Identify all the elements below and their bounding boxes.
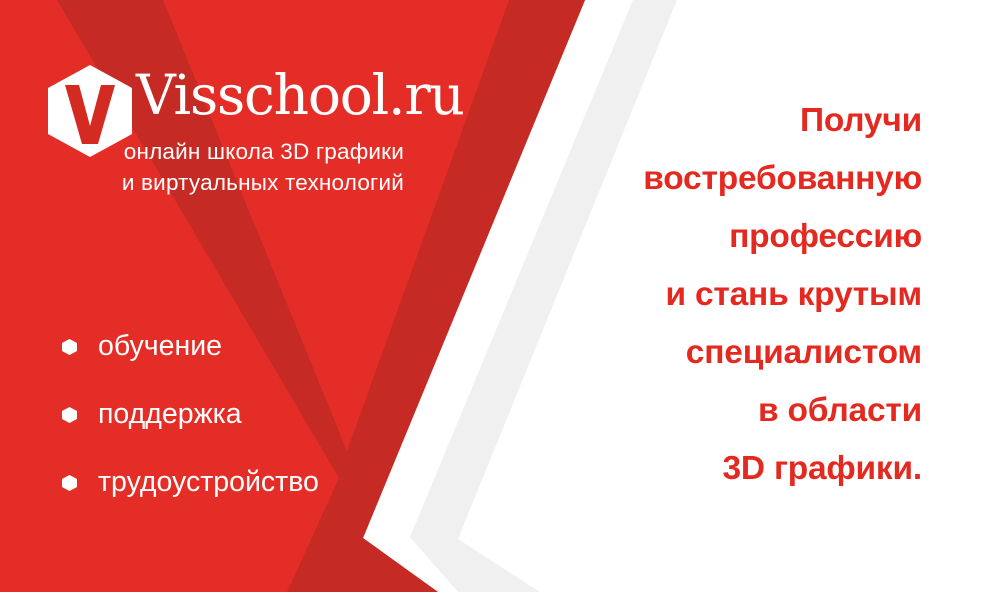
headline: Получи востребованную профессию и стань … (502, 92, 922, 498)
headline-line: востребованную (502, 150, 922, 208)
brand-tagline: онлайн школа 3D графики и виртуальных те… (48, 136, 404, 198)
headline-line: Получи (502, 92, 922, 150)
list-item: трудоустройство (62, 462, 392, 530)
hexagon-bullet-icon (62, 339, 77, 355)
headline-line: и стань крутым (502, 266, 922, 324)
headline-line: 3D графики. (502, 440, 922, 498)
hexagon-bullet-icon (62, 475, 77, 491)
feature-list: обучение поддержка трудоустройство (62, 326, 392, 530)
list-item: поддержка (62, 394, 392, 462)
tagline-line-2: и виртуальных технологий (48, 167, 404, 198)
headline-line: профессию (502, 208, 922, 266)
hexagon-bullet-icon (62, 407, 77, 423)
promo-banner: Visschool.ru онлайн школа 3D графики и в… (0, 0, 1004, 592)
headline-line: специалистом (502, 324, 922, 382)
list-item: обучение (62, 326, 392, 394)
brand-wordmark: Visschool.ru (136, 62, 404, 128)
list-item-label: трудоустройство (98, 466, 319, 498)
tagline-line-1: онлайн школа 3D графики (48, 136, 404, 167)
list-item-label: обучение (98, 330, 222, 362)
headline-line: в области (502, 382, 922, 440)
brand-logo-block: Visschool.ru онлайн школа 3D графики и в… (48, 62, 404, 192)
list-item-label: поддержка (98, 398, 242, 430)
